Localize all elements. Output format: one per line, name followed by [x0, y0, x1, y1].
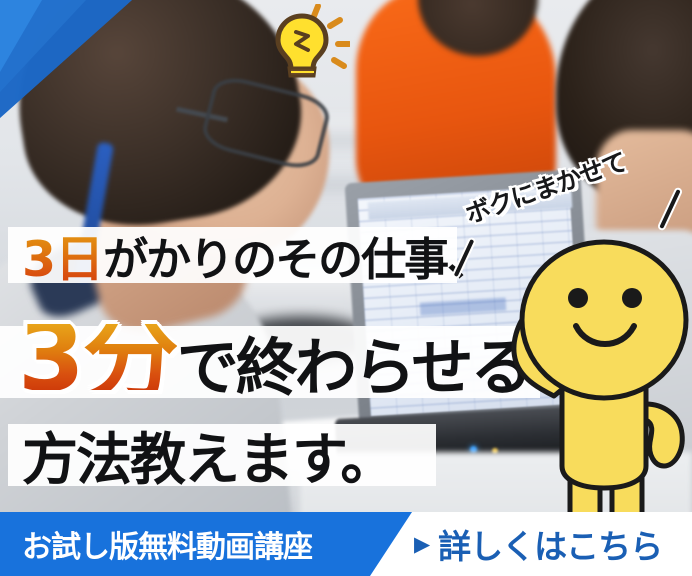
- cta-left-label: お試し版無料動画講座: [22, 512, 312, 576]
- mascot-left-eye: [568, 288, 588, 308]
- corner-shape-dark: [0, 0, 200, 180]
- mascot-right-arm: [646, 404, 682, 466]
- headline-2-accent: 3分: [18, 324, 177, 390]
- cta-link[interactable]: ▶ 詳しくはこちら: [414, 512, 662, 576]
- cta-bar: お試し版無料動画講座 ▶ 詳しくはこちら: [0, 512, 692, 576]
- headline-2-text: で終わらせる: [177, 317, 530, 407]
- mascot-head: [522, 242, 686, 398]
- mascot-right-eye: [622, 288, 642, 308]
- lightbulb-icon: [258, 4, 350, 86]
- headline-band-1: 3日 がかりのその仕事、: [8, 227, 457, 283]
- cta-right-label: 詳しくはこちら: [438, 520, 662, 568]
- corner-decoration: [0, 0, 200, 180]
- headline-1-accent: 3日: [22, 220, 103, 291]
- promo-banner: 3日 がかりのその仕事、 3分 で終わらせる 方法教えます。 ボクにまかせて: [0, 0, 692, 576]
- mascot-character: [496, 228, 692, 530]
- headline-3-text: 方法教えます。: [22, 415, 394, 496]
- headline-1-text: がかりのその仕事、: [103, 223, 490, 288]
- play-arrow-icon: ▶: [414, 534, 430, 555]
- headline-band-2: 3分 で終わらせる: [0, 326, 540, 398]
- headline-band-3: 方法教えます。: [8, 424, 436, 486]
